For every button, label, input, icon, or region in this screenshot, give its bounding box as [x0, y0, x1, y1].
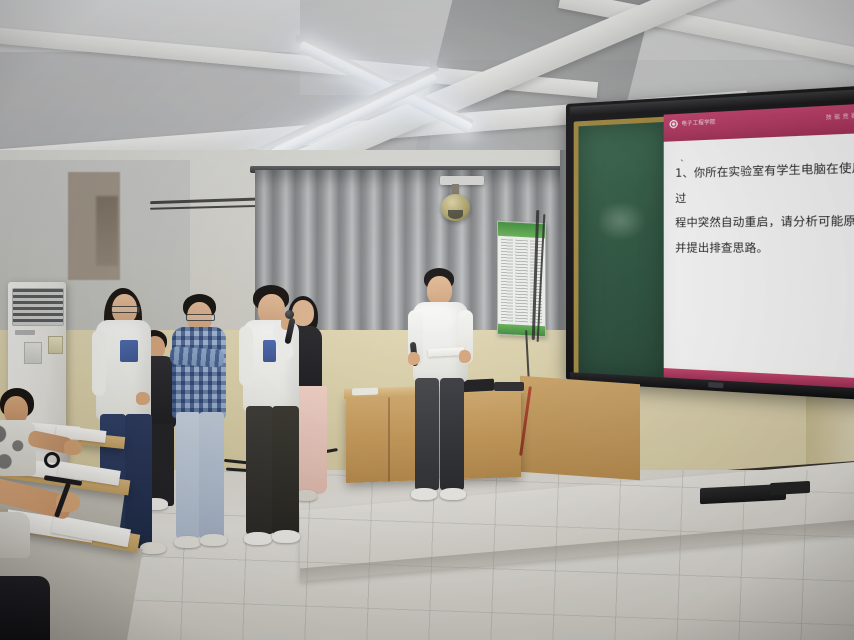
camera-mount [440, 176, 484, 185]
leg-left-jeans [176, 412, 200, 538]
ac-label-sticker [48, 336, 63, 354]
board-sensor [708, 382, 723, 388]
slide-logo: 电子工程学院 [669, 117, 716, 129]
av-equipment [770, 481, 810, 495]
leg-right-jeans [199, 412, 224, 538]
glasses-icon [186, 314, 215, 321]
poster-text-column [501, 239, 513, 322]
school-emblem-icon [669, 119, 678, 129]
slide-line: 1、你所在实验室有学生电脑在使用过 [675, 155, 854, 211]
slide-body-text: 1、你所在实验室有学生电脑在使用过 程中突然自动重启，请分析可能原因 并提出排查… [675, 155, 854, 262]
shoe-right [440, 488, 466, 500]
hand-right [459, 350, 471, 363]
glasses-icon [111, 306, 140, 313]
microphone-head [285, 310, 294, 319]
ac-vent-grill [12, 288, 64, 326]
leg-right [440, 378, 464, 490]
slide-line: 程中突然自动重启，请分析可能原因 [675, 209, 854, 236]
shoe-left [174, 536, 201, 548]
torso [0, 512, 30, 558]
hand-writing [64, 440, 82, 455]
leg-left [415, 378, 439, 490]
podium-seam [388, 394, 390, 482]
green-chalkboard-panel[interactable] [574, 116, 672, 388]
shirt-graphic [120, 340, 138, 362]
av-equipment [494, 382, 524, 391]
arm-left [239, 326, 253, 386]
hand-left [408, 352, 420, 365]
leg-right-cargo [272, 406, 299, 534]
wristwatch [44, 452, 60, 468]
camera-lens [448, 210, 463, 219]
hands-clasped [136, 392, 150, 405]
arm-left [92, 330, 106, 396]
ac-brand-logo [15, 330, 35, 335]
classroom-photo-scene: 电子工程学院 技能竞赛 ★ 、 1、你所在实验室有学生电脑在使用过 程中突然自动… [0, 0, 854, 640]
arms-crossed [169, 346, 224, 368]
shoe-left [411, 488, 437, 500]
slide-banner-right-text: 技能竞赛 [826, 112, 854, 122]
smart-board-assembly[interactable]: 电子工程学院 技能竞赛 ★ 、 1、你所在实验室有学生电脑在使用过 程中突然自动… [566, 84, 854, 405]
presentation-screen[interactable]: 电子工程学院 技能竞赛 ★ 、 1、你所在实验室有学生电脑在使用过 程中突然自动… [664, 103, 854, 389]
shoe-right [140, 542, 166, 554]
ac-control-panel[interactable] [24, 342, 42, 364]
shoe-right [200, 534, 227, 546]
torso-plaid-shirt [172, 327, 226, 419]
leg-left-cargo [246, 406, 273, 534]
podium-paper [352, 388, 378, 396]
wall-damage-patch [96, 196, 118, 266]
head [292, 300, 314, 326]
slide-line: 并提出排查思路。 [675, 236, 854, 263]
slide-logo-text: 电子工程学院 [682, 118, 716, 127]
head [427, 276, 452, 305]
torso-patterned-top [0, 420, 36, 476]
shoe-right [272, 530, 300, 543]
poster-text-column [515, 240, 527, 323]
podium-side-panel [520, 376, 640, 480]
shoe-left [244, 532, 272, 545]
chalk-smudge [600, 204, 646, 241]
shirt-graphic [263, 340, 276, 362]
judge-seated-lower [0, 576, 50, 640]
